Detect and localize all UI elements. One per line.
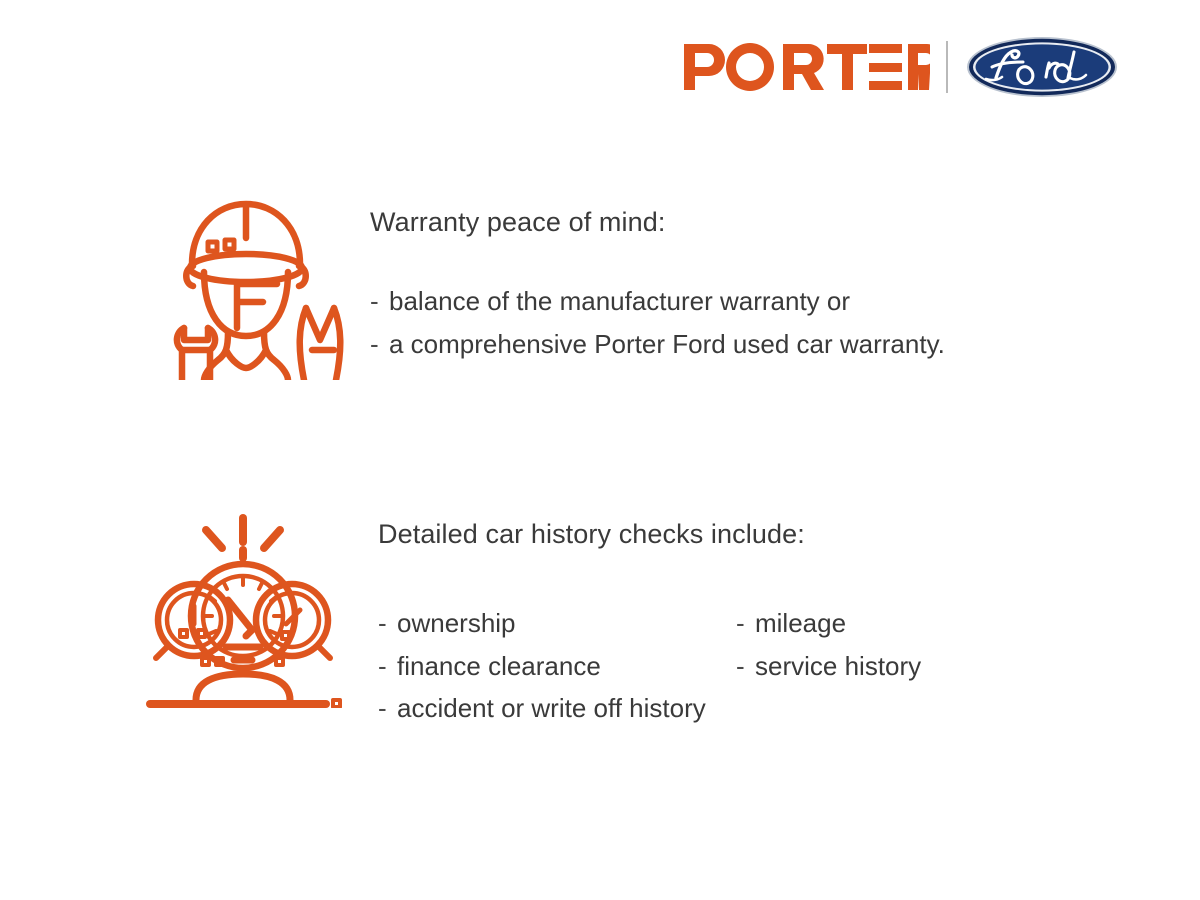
bullet-row: - ownership - mileage [378,602,921,644]
car-dashboard-gauges-icon [140,508,346,708]
feature-warranty-bullets: - balance of the manufacturer warranty o… [370,280,945,364]
bullet-dash: - [370,280,389,322]
brand-divider [946,41,948,93]
bullet-dash: - [370,323,389,365]
feature-warranty: Warranty peace of mind: - balance of the… [148,180,945,380]
feature-warranty-heading: Warranty peace of mind: [370,206,945,238]
feature-history: Detailed car history checks include: - o… [140,508,921,729]
car-dashboard-gauges-icon-svg [140,508,346,708]
bullet-item: - finance clearance [378,645,736,687]
bullet-item: - mileage [736,602,846,644]
brand-bar [682,34,1118,100]
bullet-item: - service history [736,645,921,687]
feature-warranty-text: Warranty peace of mind: - balance of the… [370,180,945,365]
feature-history-heading: Detailed car history checks include: [378,518,921,550]
bullet-label: service history [755,645,921,687]
bullet-label: mileage [755,602,846,644]
feature-history-bullets: - ownership - mileage - finance clearanc… [378,602,921,728]
bullet-label: accident or write off history [397,687,706,729]
bullet-label: ownership [397,602,516,644]
bullet-item: - balance of the manufacturer warranty o… [370,280,945,322]
porter-logo[interactable] [682,43,930,91]
feature-history-text: Detailed car history checks include: - o… [378,508,921,729]
porter-wordmark-svg [682,42,930,92]
bullet-dash: - [736,645,755,687]
bullet-row: - finance clearance - service history [378,645,921,687]
bullet-label: finance clearance [397,645,601,687]
bullet-row: - accident or write off history [378,687,921,729]
bullet-item: - accident or write off history [378,687,736,729]
ford-oval-svg [966,36,1118,98]
bullet-dash: - [378,687,397,729]
bullet-label: a comprehensive Porter Ford used car war… [389,323,945,365]
mechanic-icon [148,180,344,380]
bullet-label: balance of the manufacturer warranty or [389,280,850,322]
bullet-dash: - [378,602,397,644]
bullet-dash: - [378,645,397,687]
bullet-item: - a comprehensive Porter Ford used car w… [370,323,945,365]
bullet-item: - ownership [378,602,736,644]
ford-logo[interactable] [966,36,1118,98]
mechanic-icon-svg [148,180,344,380]
bullet-dash: - [736,602,755,644]
